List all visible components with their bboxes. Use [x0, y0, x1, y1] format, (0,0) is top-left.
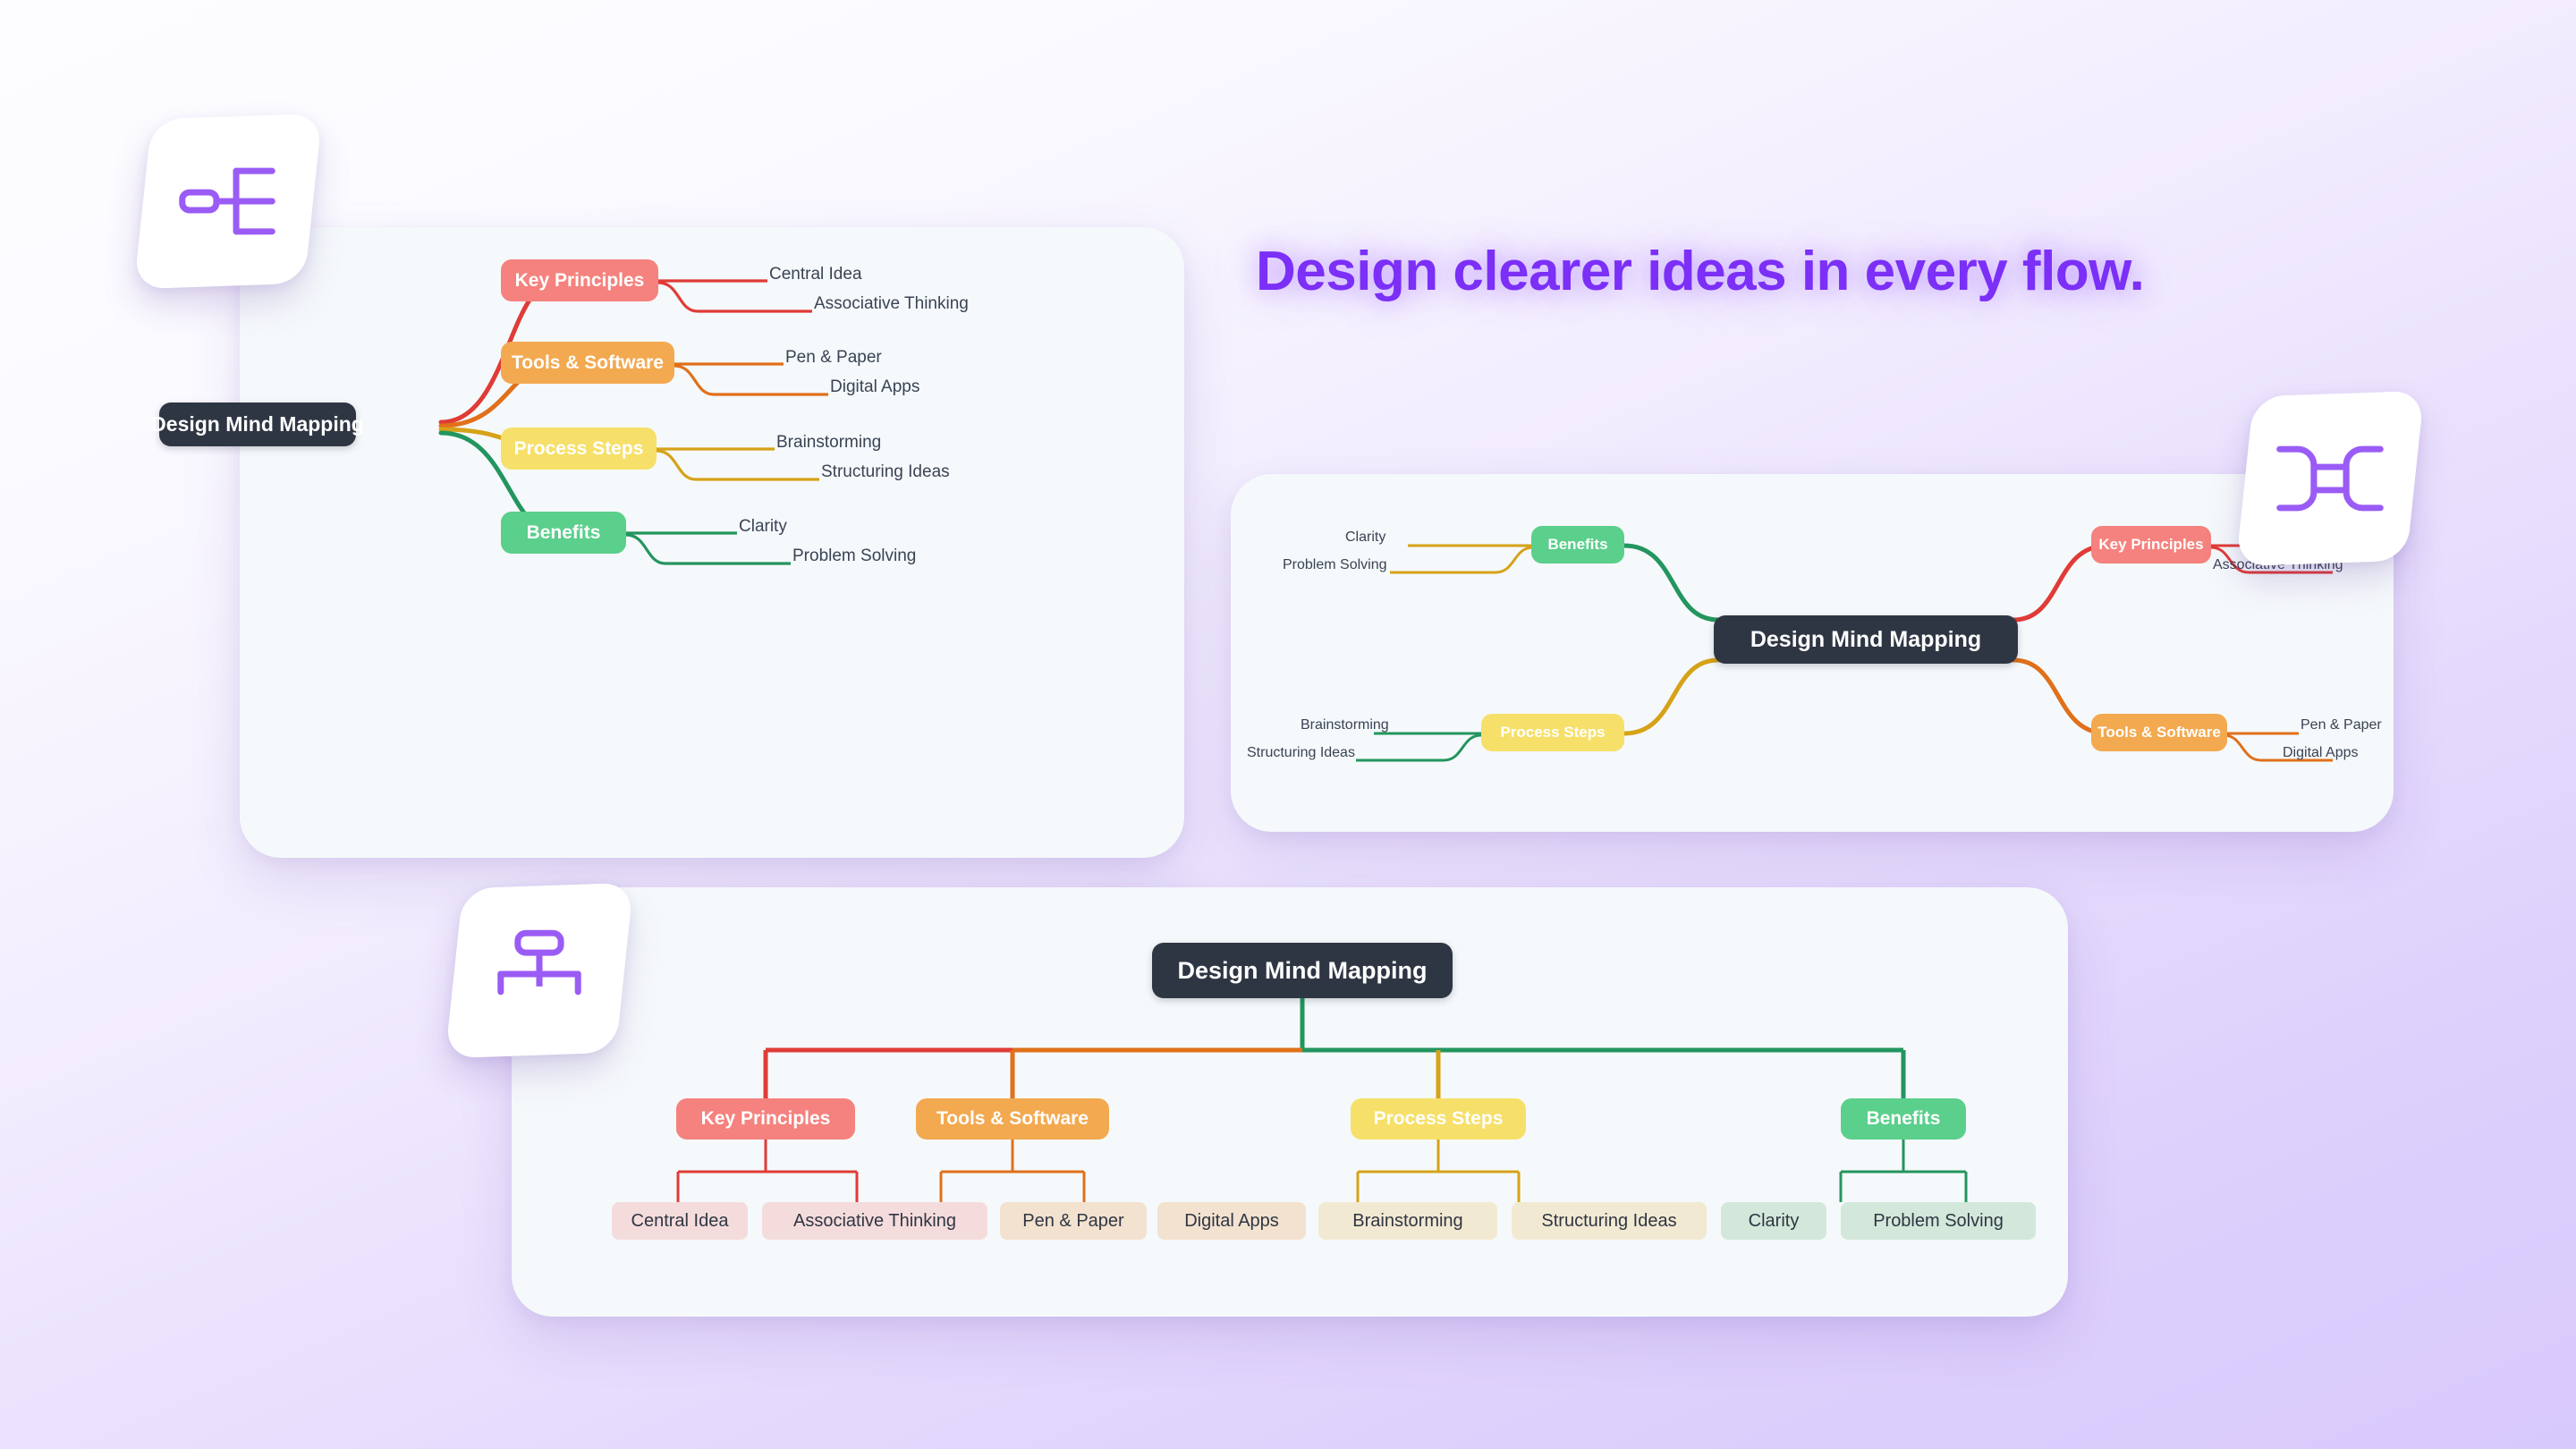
bilateral-branch-benefits[interactable]: Benefits: [1531, 526, 1624, 563]
bilateral-leaf-brainstorming[interactable]: Brainstorming: [1301, 717, 1389, 733]
bilateral-root-node[interactable]: Design Mind Mapping: [1714, 615, 2018, 664]
radial-branch-tools-software[interactable]: Tools & Software: [501, 342, 674, 384]
tree-branch-process-steps[interactable]: Process Steps: [1351, 1098, 1526, 1140]
tree-root-node[interactable]: Design Mind Mapping: [1152, 943, 1453, 998]
org-chart-icon: [490, 928, 589, 1013]
radial-leaf-problem-solving[interactable]: Problem Solving: [792, 547, 916, 566]
bilateral-map-panel: Design Mind Mapping Benefits Clarity Pro…: [1231, 474, 2394, 832]
radial-leaf-pen-paper[interactable]: Pen & Paper: [785, 348, 882, 368]
bilateral-branch-process-steps[interactable]: Process Steps: [1481, 714, 1624, 751]
bilateral-leaf-digital-apps[interactable]: Digital Apps: [2283, 745, 2359, 761]
page-title: Design clearer ideas in every flow.: [1256, 240, 2508, 303]
bilateral-leaf-pen-paper[interactable]: Pen & Paper: [2301, 717, 2382, 733]
bilateral-branch-key-principles[interactable]: Key Principles: [2091, 526, 2211, 563]
tree-leaf-brainstorming[interactable]: Brainstorming: [1318, 1202, 1497, 1240]
radial-leaf-associative-thinking[interactable]: Associative Thinking: [814, 294, 969, 314]
tree-leaf-central-idea[interactable]: Central Idea: [612, 1202, 748, 1240]
radial-root-node[interactable]: Design Mind Mapping: [159, 402, 356, 446]
radial-leaf-central-idea[interactable]: Central Idea: [769, 265, 862, 284]
tree-leaf-problem-solving[interactable]: Problem Solving: [1841, 1202, 2036, 1240]
radial-branch-benefits[interactable]: Benefits: [501, 512, 626, 554]
two-sided-map-icon: [2276, 440, 2385, 517]
tree-branch-benefits[interactable]: Benefits: [1841, 1098, 1966, 1140]
tree-leaf-digital-apps[interactable]: Digital Apps: [1157, 1202, 1306, 1240]
radial-map-wires: [240, 227, 1184, 858]
bilateral-map-icon-card: [2236, 391, 2425, 567]
tree-leaf-pen-paper[interactable]: Pen & Paper: [1000, 1202, 1147, 1240]
radial-branch-key-principles[interactable]: Key Principles: [501, 259, 658, 301]
right-branch-map-icon: [179, 158, 278, 244]
tree-leaf-associative-thinking[interactable]: Associative Thinking: [762, 1202, 987, 1240]
tree-branch-key-principles[interactable]: Key Principles: [676, 1098, 855, 1140]
bilateral-leaf-clarity[interactable]: Clarity: [1345, 530, 1385, 546]
radial-map-icon-card: [134, 114, 323, 290]
radial-leaf-digital-apps[interactable]: Digital Apps: [830, 377, 919, 397]
radial-leaf-brainstorming[interactable]: Brainstorming: [776, 433, 881, 453]
bilateral-branch-tools-software[interactable]: Tools & Software: [2091, 714, 2227, 751]
tree-leaf-clarity[interactable]: Clarity: [1721, 1202, 1826, 1240]
radial-map-panel: Design Mind Mapping Key Principles Centr…: [240, 227, 1184, 858]
poster-canvas: Design clearer ideas in every flow. Desi…: [0, 0, 2576, 1449]
tree-leaf-structuring-ideas[interactable]: Structuring Ideas: [1512, 1202, 1707, 1240]
radial-leaf-structuring-ideas[interactable]: Structuring Ideas: [821, 462, 950, 482]
radial-leaf-clarity[interactable]: Clarity: [739, 517, 787, 537]
tree-map-icon-card: [445, 883, 634, 1059]
tree-branch-tools-software[interactable]: Tools & Software: [916, 1098, 1109, 1140]
bilateral-leaf-problem-solving[interactable]: Problem Solving: [1283, 557, 1387, 573]
radial-branch-process-steps[interactable]: Process Steps: [501, 428, 657, 470]
tree-map-panel: Design Mind Mapping Key Principles Tools…: [512, 887, 2068, 1317]
bilateral-leaf-structuring-ideas[interactable]: Structuring Ideas: [1247, 745, 1355, 761]
